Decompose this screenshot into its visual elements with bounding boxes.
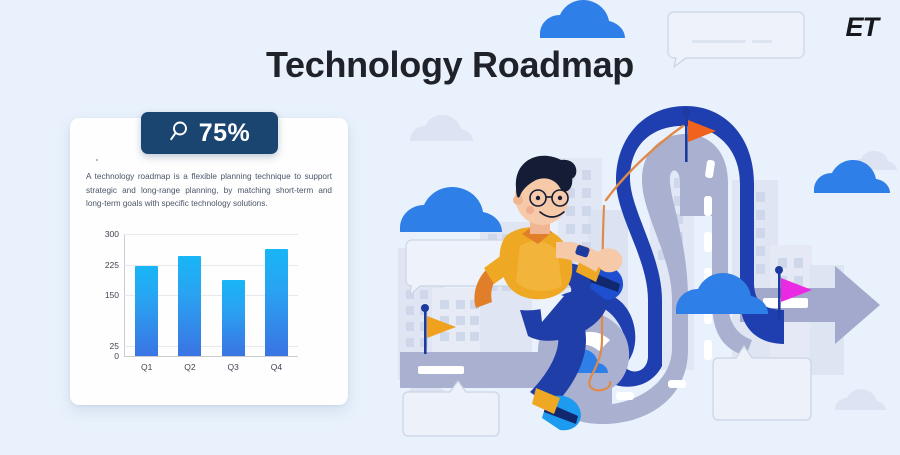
card-paragraph: A technology roadmap is a flexible plann…	[86, 170, 332, 211]
card-dot	[96, 159, 98, 161]
chart-bar-group: Q3	[212, 234, 255, 356]
chart-y-tick: 225	[105, 260, 119, 270]
chart-y-tick: 25	[110, 341, 119, 351]
chart-bar[interactable]	[135, 266, 158, 356]
chart-x-axis	[124, 356, 298, 357]
chart-bars: Q1Q2Q3Q4	[125, 234, 298, 356]
chart-bar[interactable]	[265, 249, 288, 356]
completion-value: 75%	[199, 119, 251, 148]
technology-roadmap-illustration	[380, 0, 900, 450]
bubble-top-right[interactable]	[668, 12, 804, 67]
chart-plot-area: 300225150250 Q1Q2Q3Q4	[124, 234, 298, 356]
completion-badge[interactable]: 75%	[141, 112, 278, 154]
chart-x-tick: Q3	[227, 362, 238, 372]
chart-y-tick: 300	[105, 229, 119, 239]
chart-bar-group: Q2	[168, 234, 211, 356]
info-card: A technology roadmap is a flexible plann…	[70, 118, 348, 405]
chart-x-tick: Q4	[271, 362, 282, 372]
chart-y-tick: 0	[114, 351, 119, 361]
bar-chart: 300225150250 Q1Q2Q3Q4	[90, 230, 330, 385]
poster-canvas: ET Technology Roadmap A technology roadm…	[0, 0, 900, 450]
chart-bar-group: Q1	[125, 234, 168, 356]
chart-x-tick: Q1	[141, 362, 152, 372]
chart-x-tick: Q2	[184, 362, 195, 372]
chart-bar[interactable]	[222, 280, 245, 356]
chart-y-tick: 150	[105, 290, 119, 300]
magnifier-icon	[169, 120, 190, 147]
chart-bar-group: Q4	[255, 234, 298, 356]
chart-bar[interactable]	[178, 256, 201, 356]
